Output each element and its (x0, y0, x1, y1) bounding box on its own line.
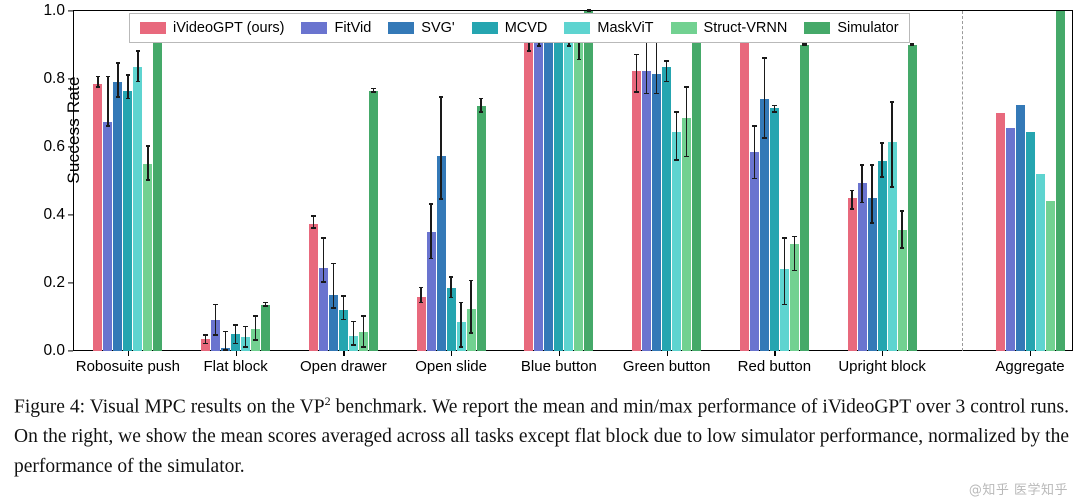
bar (672, 132, 681, 351)
bar (858, 183, 867, 351)
bar-group (309, 11, 378, 351)
error-bar-cap (792, 236, 796, 238)
error-bar (794, 237, 796, 271)
bar (309, 224, 318, 352)
error-bar-cap (910, 44, 914, 46)
error-bar-cap (527, 50, 531, 52)
legend-item: MCVD (472, 20, 548, 36)
error-bar-cap (96, 86, 100, 88)
error-bar-cap (106, 125, 110, 127)
bar (153, 33, 162, 351)
error-bar-cap (439, 96, 443, 98)
aggregate-separator (962, 11, 963, 351)
error-bar-cap (654, 93, 658, 95)
error-bar-cap (870, 222, 874, 224)
error-bar (636, 55, 638, 92)
error-bar-cap (351, 321, 355, 323)
error-bar (871, 166, 873, 224)
error-bar-cap (439, 198, 443, 200)
error-bar-cap (96, 76, 100, 78)
error-bar-cap (469, 280, 473, 282)
error-bar-cap (321, 281, 325, 283)
bar-group (740, 11, 809, 351)
figure-caption: Figure 4: Visual MPC results on the VP2 … (14, 392, 1069, 481)
y-tick-mark (68, 10, 73, 11)
error-bar-cap (361, 315, 365, 317)
error-bar (107, 77, 109, 126)
error-bar-cap (772, 111, 776, 113)
bar (534, 31, 543, 351)
error-bar-cap (860, 164, 864, 166)
bar (770, 108, 779, 351)
error-bar-cap (890, 101, 894, 103)
bar-group (93, 11, 162, 351)
error-bar-cap (880, 176, 884, 178)
error-bar-cap (782, 304, 786, 306)
error-bar-cap (203, 343, 207, 345)
error-bar-cap (243, 346, 247, 348)
bar (574, 42, 583, 351)
error-bar (137, 52, 139, 83)
error-bar-cap (900, 210, 904, 212)
error-bar-cap (850, 190, 854, 192)
bar (143, 164, 152, 351)
error-bar-cap (223, 331, 227, 333)
legend-label: Simulator (837, 20, 898, 36)
bar (524, 26, 533, 351)
error-bar-cap (664, 81, 668, 83)
error-bar-cap (890, 186, 894, 188)
legend-label: MCVD (505, 20, 548, 36)
bar (1016, 105, 1025, 352)
error-bar-cap (910, 43, 914, 45)
error-bar-cap (684, 156, 688, 158)
bar (848, 198, 857, 351)
error-bar (215, 305, 217, 336)
error-bar-cap (233, 324, 237, 326)
x-tick-label: Robosuite push (76, 358, 180, 375)
bar (1006, 128, 1015, 351)
bar (750, 152, 759, 351)
bar (554, 26, 563, 351)
error-bar-cap (331, 263, 335, 265)
y-tick-mark (68, 214, 73, 215)
bar (800, 45, 809, 351)
legend-swatch-icon (671, 22, 697, 34)
bar (584, 11, 593, 351)
error-bar (861, 166, 863, 203)
error-bar-cap (900, 247, 904, 249)
error-bar-cap (752, 125, 756, 127)
error-bar-cap (263, 305, 267, 307)
bar-group (524, 11, 593, 351)
legend-item: Struct-VRNN (671, 20, 788, 36)
error-bar-cap (537, 45, 541, 47)
x-tick-mark (128, 351, 129, 356)
bar-group (996, 11, 1065, 351)
error-bar (363, 317, 365, 348)
error-bar-cap (341, 319, 345, 321)
error-bar-cap (106, 76, 110, 78)
error-bar (646, 40, 648, 94)
y-tick-mark (68, 78, 73, 79)
bar (133, 67, 142, 351)
error-bar-cap (213, 304, 217, 306)
error-bar-cap (243, 326, 247, 328)
error-bar (901, 212, 903, 249)
error-bar (764, 59, 766, 139)
x-tick-label: Flat block (204, 358, 268, 375)
error-bar (754, 127, 756, 180)
error-bar-cap (341, 295, 345, 297)
error-bar (470, 281, 472, 334)
x-tick-label: Open slide (415, 358, 487, 375)
error-bar-cap (664, 60, 668, 62)
error-bar-cap (223, 349, 227, 351)
error-bar-cap (634, 54, 638, 56)
error-bar-cap (762, 57, 766, 59)
error-bar (343, 297, 345, 321)
bar (878, 161, 887, 351)
x-tick-mark (882, 351, 883, 356)
error-bar-cap (331, 307, 335, 309)
error-bar-cap (577, 59, 581, 61)
legend-swatch-icon (472, 22, 498, 34)
error-bar-cap (449, 276, 453, 278)
bar-group (201, 11, 270, 351)
error-bar (323, 239, 325, 283)
x-tick-label: Aggregate (995, 358, 1064, 375)
legend-swatch-icon (388, 22, 414, 34)
error-bar (891, 103, 893, 188)
x-tick-label: Open drawer (300, 358, 387, 375)
x-tick-mark (774, 351, 775, 356)
legend-label: Struct-VRNN (704, 20, 788, 36)
legend-swatch-icon (804, 22, 830, 34)
bar (1026, 132, 1035, 351)
error-bar-cap (253, 339, 257, 341)
bar (544, 21, 553, 351)
bar (632, 71, 641, 352)
error-bar-cap (762, 137, 766, 139)
legend-item: SVG' (388, 20, 454, 36)
error-bar (255, 317, 257, 341)
bar (564, 31, 573, 351)
error-bar-cap (429, 258, 433, 260)
bar (103, 122, 112, 352)
error-bar (851, 191, 853, 210)
error-bar-cap (311, 227, 315, 229)
error-bar (117, 64, 119, 98)
error-bar-cap (146, 179, 150, 181)
error-bar (440, 98, 442, 200)
x-tick-label: Upright block (838, 358, 926, 375)
bar (1056, 11, 1065, 351)
error-bar-cap (449, 297, 453, 299)
x-tick-mark (236, 351, 237, 356)
error-bar-cap (674, 111, 678, 113)
error-bar (353, 322, 355, 346)
bar (652, 74, 661, 351)
error-bar-cap (203, 334, 207, 336)
error-bar-cap (782, 237, 786, 239)
legend-item: MaskViT (564, 20, 653, 36)
error-bar (430, 205, 432, 259)
figure-container: Success Rate 0.00.20.40.60.81.0 Robosuit… (0, 0, 1080, 385)
error-bar-cap (752, 178, 756, 180)
error-bar-cap (479, 98, 483, 100)
error-bar (784, 239, 786, 305)
bar (93, 84, 102, 351)
legend-swatch-icon (564, 22, 590, 34)
y-tick-label: 0.2 (5, 274, 65, 292)
error-bar-cap (116, 96, 120, 98)
legend-item: FitVid (301, 20, 371, 36)
bar (369, 91, 378, 351)
bar (1036, 174, 1045, 351)
error-bar-cap (213, 334, 217, 336)
x-tick-mark (1030, 351, 1031, 356)
y-tick-label: 0.0 (5, 342, 65, 360)
error-bar-cap (136, 81, 140, 83)
legend-label: iVideoGPT (ours) (173, 20, 284, 36)
error-bar-cap (860, 202, 864, 204)
bar (113, 82, 122, 351)
error-bar-cap (116, 62, 120, 64)
bar (477, 106, 486, 351)
error-bar (881, 144, 883, 178)
y-tick-label: 1.0 (5, 2, 65, 20)
error-bar-cap (263, 302, 267, 304)
error-bar (666, 62, 668, 82)
y-tick-label: 0.4 (5, 206, 65, 224)
error-bar-cap (792, 270, 796, 272)
x-tick-label: Green button (623, 358, 711, 375)
error-bar-cap (419, 302, 423, 304)
x-tick-mark (451, 351, 452, 356)
legend-swatch-icon (140, 22, 166, 34)
x-tick-mark (667, 351, 668, 356)
error-bar-cap (136, 50, 140, 52)
error-bar (147, 147, 149, 181)
error-bar-cap (870, 164, 874, 166)
caption-part-1: Figure 4: Visual MPC results on the VP (14, 397, 325, 418)
error-bar-cap (361, 346, 365, 348)
legend-item: Simulator (804, 20, 898, 36)
chart-legend: iVideoGPT (ours)FitVidSVG'MCVDMaskViTStr… (129, 13, 910, 43)
error-bar-cap (587, 9, 591, 11)
error-bar-cap (253, 315, 257, 317)
y-tick-mark (68, 282, 73, 283)
error-bar-cap (371, 88, 375, 90)
bar (123, 91, 132, 351)
error-bar (235, 326, 237, 345)
bar (662, 67, 671, 351)
error-bar-cap (419, 287, 423, 289)
error-bar-cap (567, 45, 571, 47)
error-bar (245, 327, 247, 347)
bar (1046, 201, 1055, 351)
bar-group (632, 11, 701, 351)
x-tick-label: Red button (738, 358, 811, 375)
error-bar-cap (674, 159, 678, 161)
error-bar-cap (429, 203, 433, 205)
plot-area (74, 11, 1072, 351)
bar-group (417, 11, 486, 351)
y-tick-label: 0.8 (5, 70, 65, 88)
watermark: @知乎 医学知乎 (969, 479, 1068, 498)
y-tick-mark (68, 350, 73, 351)
error-bar (333, 264, 335, 308)
error-bar (656, 40, 658, 94)
legend-label: MaskViT (597, 20, 653, 36)
error-bar-cap (880, 142, 884, 144)
error-bar-cap (351, 344, 355, 346)
error-bar-cap (311, 215, 315, 217)
x-tick-mark (559, 351, 560, 356)
y-tick-label: 0.6 (5, 138, 65, 156)
legend-label: SVG' (421, 20, 454, 36)
bar (740, 37, 749, 352)
error-bar (676, 113, 678, 161)
error-bar-cap (644, 93, 648, 95)
error-bar (127, 76, 129, 100)
x-tick-mark (343, 351, 344, 356)
error-bar-cap (772, 105, 776, 107)
error-bar-cap (459, 302, 463, 304)
legend-swatch-icon (301, 22, 327, 34)
error-bar-cap (469, 332, 473, 334)
bar-group (848, 11, 917, 351)
bar (692, 23, 701, 351)
bar (996, 113, 1005, 351)
error-bar-cap (634, 91, 638, 93)
bar (908, 45, 917, 351)
error-bar-cap (802, 44, 806, 46)
error-bar-cap (126, 74, 130, 76)
bar (417, 297, 426, 351)
bar (642, 71, 651, 352)
error-bar-cap (587, 10, 591, 12)
error-bar-cap (371, 91, 375, 93)
error-bar-cap (321, 237, 325, 239)
legend-item: iVideoGPT (ours) (140, 20, 284, 36)
error-bar-cap (850, 208, 854, 210)
error-bar (225, 332, 227, 351)
error-bar-cap (233, 343, 237, 345)
y-tick-mark (68, 146, 73, 147)
error-bar-cap (459, 346, 463, 348)
bar (261, 305, 270, 351)
error-bar-cap (146, 145, 150, 147)
legend-label: FitVid (334, 20, 371, 36)
error-bar-cap (126, 98, 130, 100)
x-tick-label: Blue button (521, 358, 597, 375)
error-bar-cap (684, 86, 688, 88)
error-bar (450, 278, 452, 298)
error-bar (460, 303, 462, 347)
error-bar-cap (479, 111, 483, 113)
error-bar (686, 88, 688, 158)
